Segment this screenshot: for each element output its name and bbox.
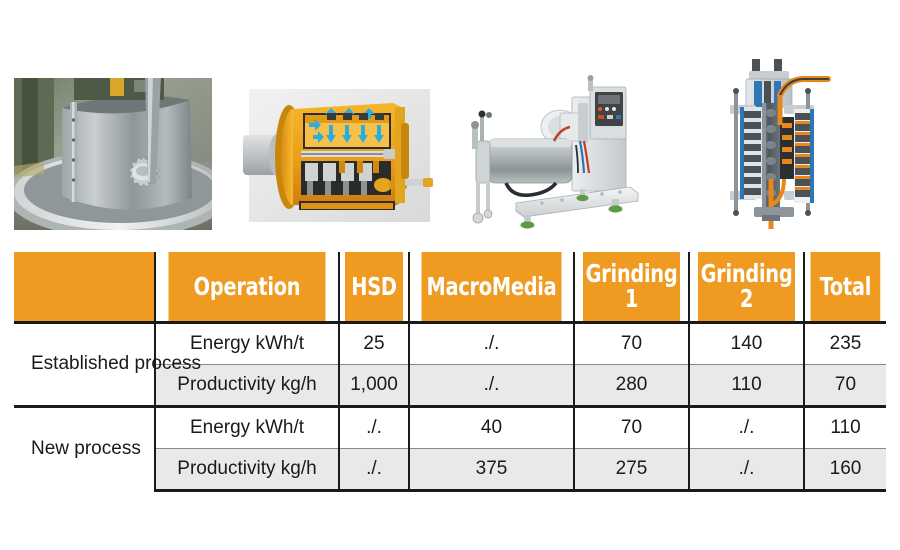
cell-total: 110 [804, 406, 886, 448]
cell-total: 70 [804, 364, 886, 406]
macromedia-cutaway [243, 83, 436, 228]
cell-hsd: ./. [339, 406, 409, 448]
figure-strip [0, 0, 900, 240]
comparison-table-wrapper: Operation HSD MacroMedia Grinding 1 Grin… [14, 252, 886, 492]
row-group-label-new: New process [14, 406, 155, 490]
cell-operation: Energy kWh/t [155, 406, 339, 448]
header-cell-total: Total [810, 252, 881, 322]
cell-hsd: 1,000 [339, 364, 409, 406]
header-cell-grinding-2: Grinding 2 [697, 252, 796, 322]
cell-macromedia: ./. [409, 364, 574, 406]
cell-hsd: ./. [339, 448, 409, 490]
cell-grinding-1: 275 [574, 448, 689, 490]
cell-total: 235 [804, 322, 886, 364]
cell-grinding-2: 140 [689, 322, 804, 364]
header-cell-hsd: HSD [344, 252, 404, 322]
header-cell-grinding-1: Grinding 1 [582, 252, 681, 322]
mixing-tank-photo [14, 78, 212, 230]
table-body: Established process Energy kWh/t 25 ./. … [14, 322, 886, 490]
cell-macromedia: ./. [409, 322, 574, 364]
table-header-row: Operation HSD MacroMedia Grinding 1 Grin… [14, 252, 886, 322]
cell-grinding-2: ./. [689, 448, 804, 490]
process-comparison-table: Operation HSD MacroMedia Grinding 1 Grin… [14, 252, 886, 492]
cell-macromedia: 40 [409, 406, 574, 448]
header-cell-macromedia: MacroMedia [421, 252, 563, 322]
cell-operation: Productivity kg/h [155, 448, 339, 490]
header-cell-operation: Operation [168, 252, 326, 322]
cell-grinding-1: 70 [574, 322, 689, 364]
grinding-mill-cutaway [718, 55, 835, 235]
header-cell-process [14, 252, 155, 322]
table-header: Operation HSD MacroMedia Grinding 1 Grin… [14, 252, 886, 322]
cell-grinding-1: 280 [574, 364, 689, 406]
cell-grinding-2: 110 [689, 364, 804, 406]
cell-grinding-1: 70 [574, 406, 689, 448]
cell-macromedia: 375 [409, 448, 574, 490]
table-row: New process Energy kWh/t ./. 40 70 ./. 1… [14, 406, 886, 448]
cell-total: 160 [804, 448, 886, 490]
cell-grinding-2: ./. [689, 406, 804, 448]
table-row: Established process Energy kWh/t 25 ./. … [14, 322, 886, 364]
cell-hsd: 25 [339, 322, 409, 364]
row-group-label-established: Established process [14, 322, 155, 406]
bead-mill-photo [462, 75, 647, 235]
